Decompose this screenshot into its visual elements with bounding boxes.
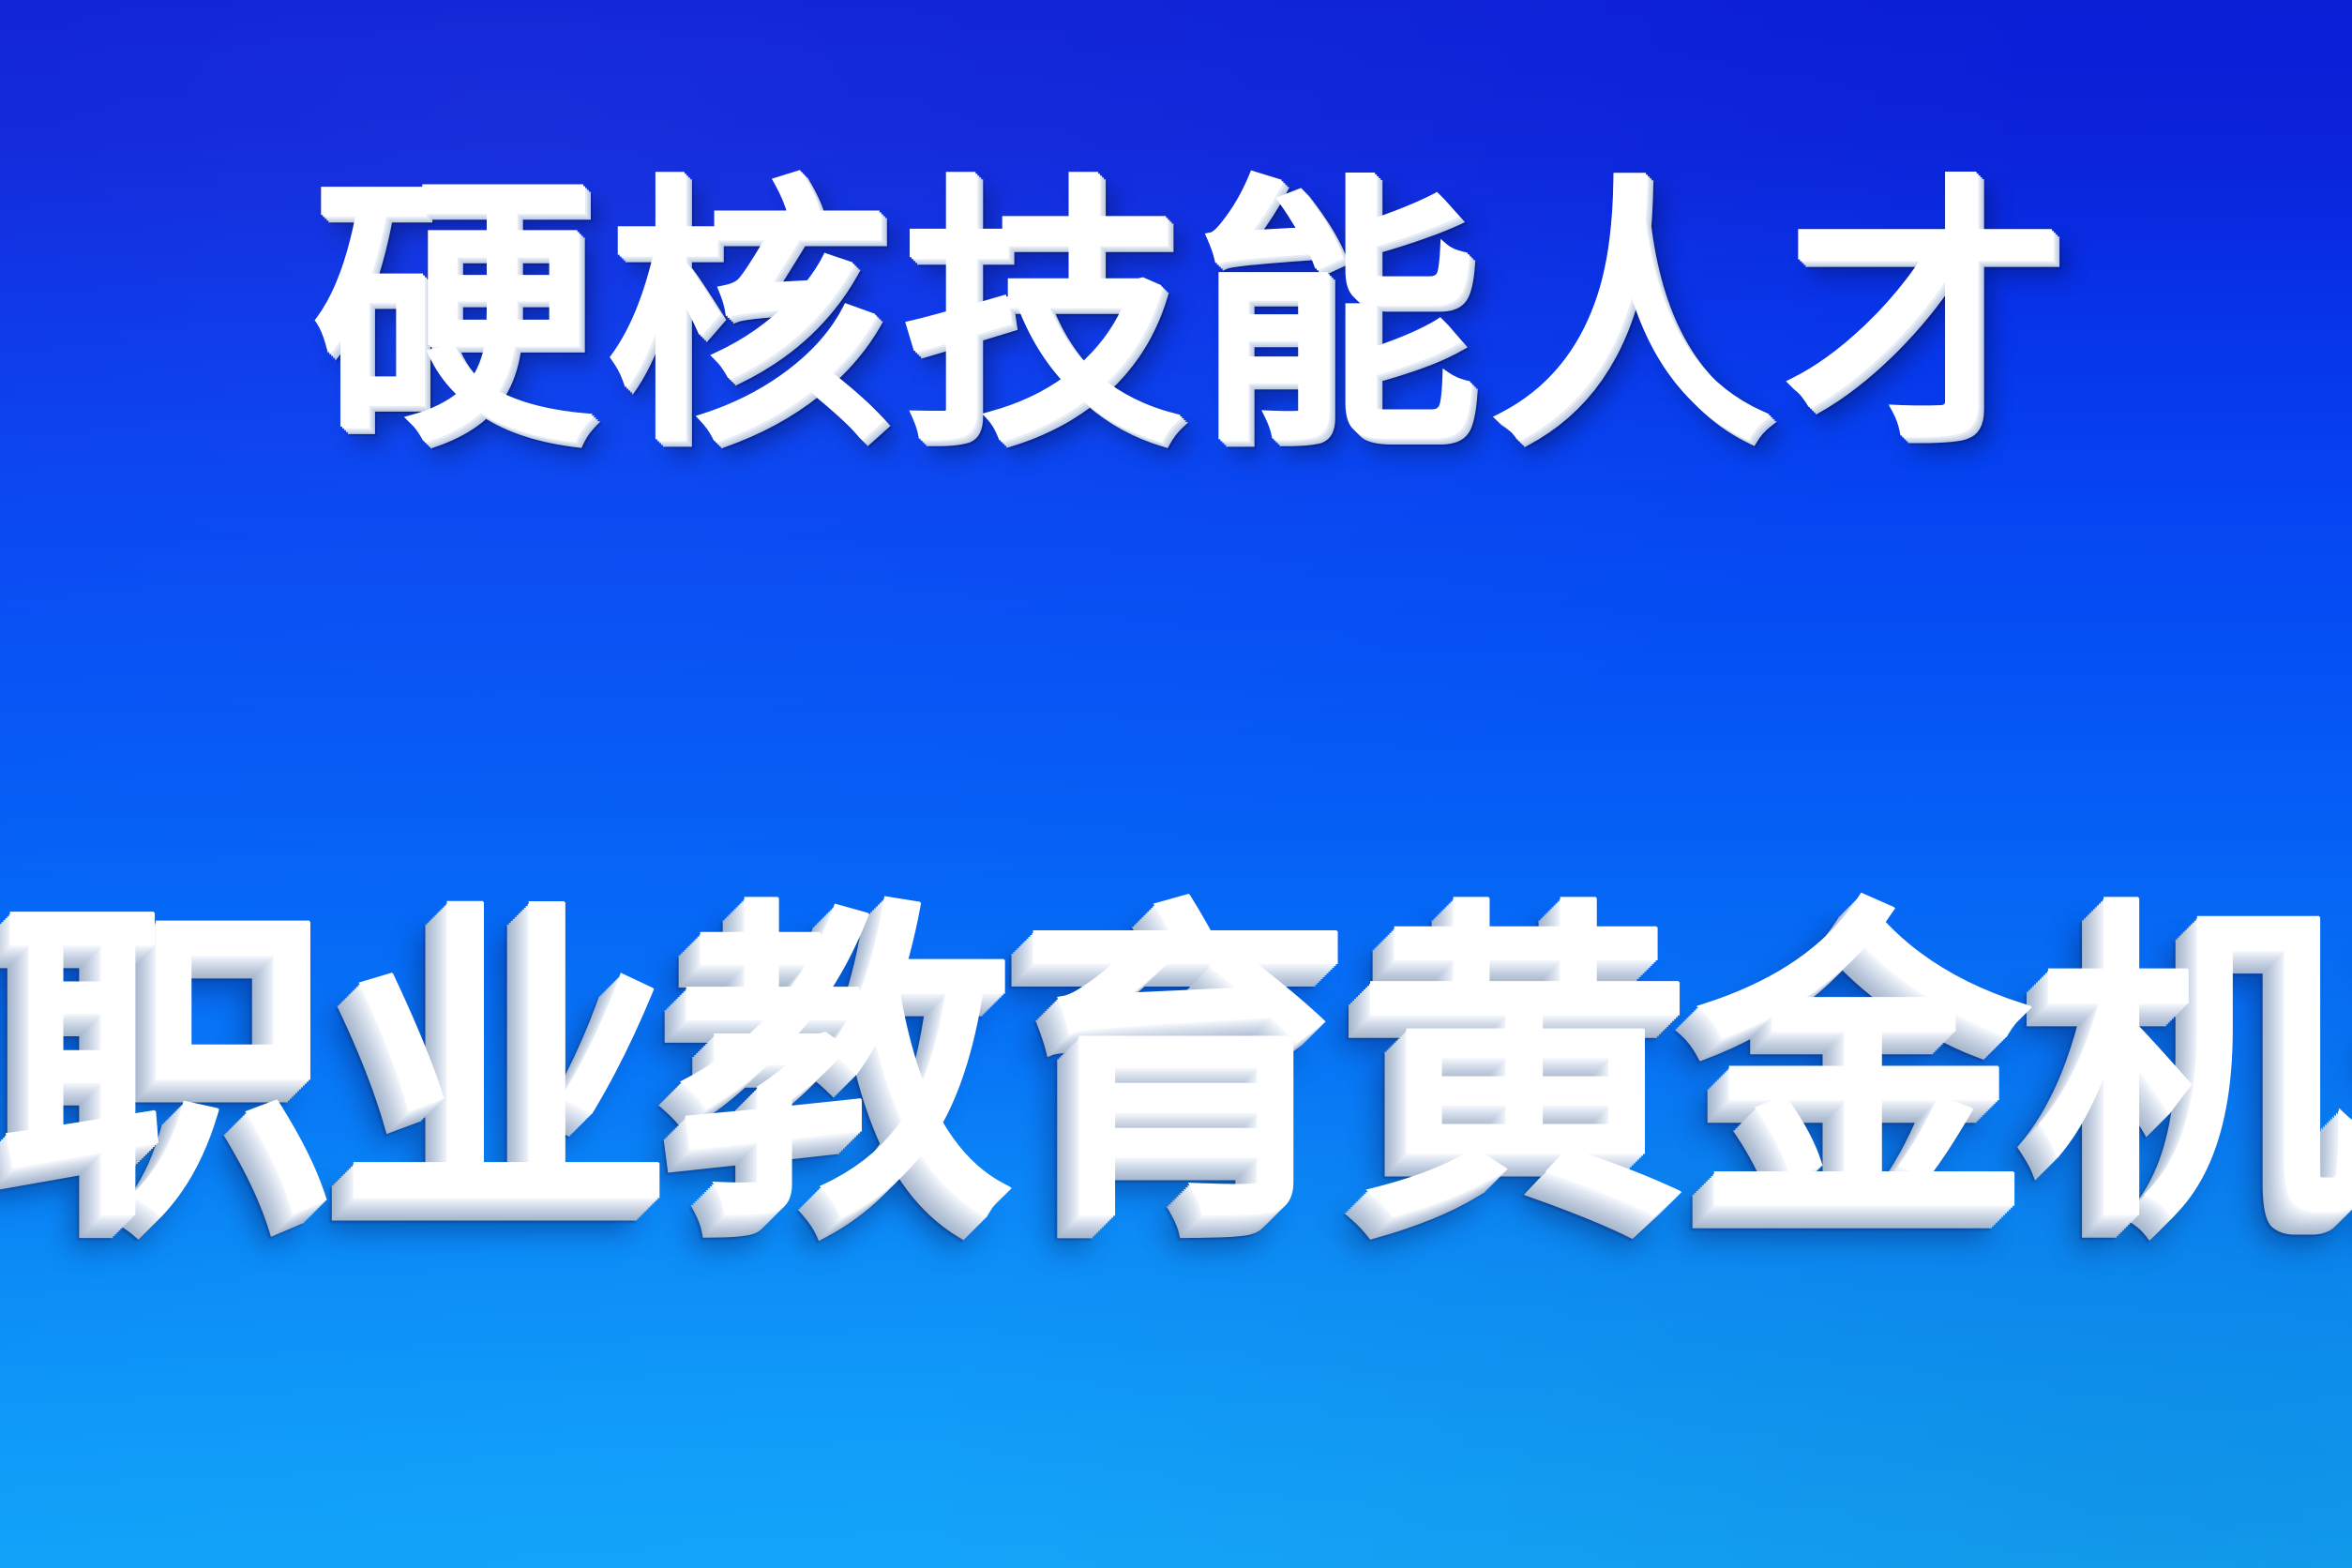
headline-line-two: 职业教育黄金机遇 — [0, 902, 2352, 1236]
poster-canvas: 硬核技能人才 职业教育黄金机遇 — [0, 0, 2352, 1568]
headline-line-one: 硬核技能人才 — [0, 176, 2352, 458]
